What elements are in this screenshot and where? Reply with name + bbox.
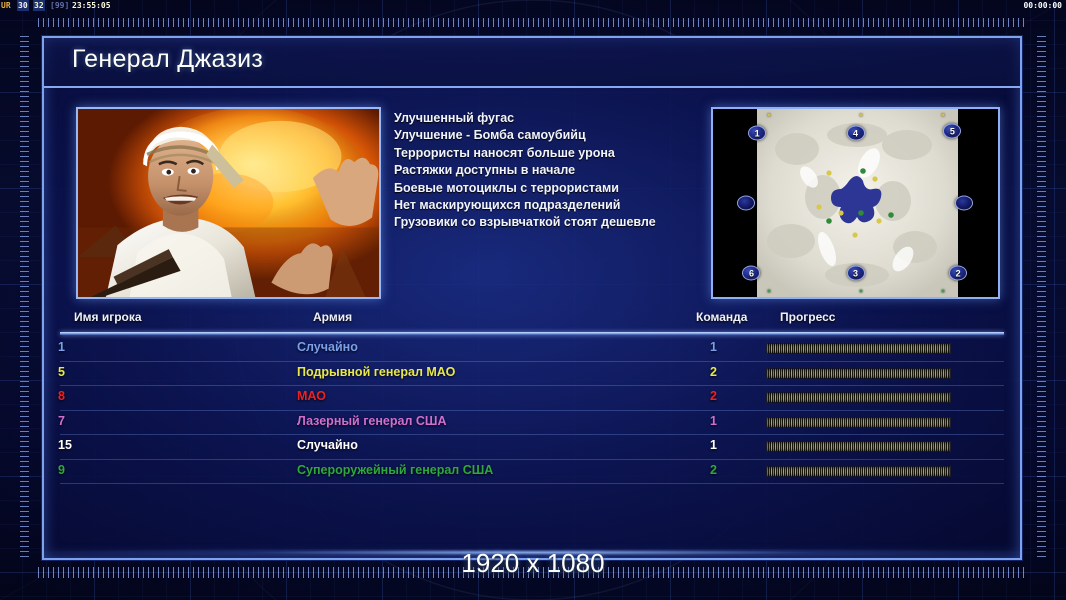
ruler-right-ticks — [1037, 36, 1046, 560]
player-name: 5 — [58, 365, 65, 379]
table-row[interactable]: 8 МАО 2 — [44, 386, 1020, 411]
player-progress-bar — [766, 441, 951, 452]
column-header-progress: Прогресс — [780, 310, 835, 324]
map-start-position-4[interactable]: 4 — [847, 125, 865, 140]
player-team: 2 — [710, 463, 717, 477]
map-preview[interactable]: 1 4 5 6 3 2 — [711, 107, 1000, 299]
player-team: 1 — [710, 340, 717, 354]
table-header-divider — [60, 332, 1004, 335]
map-start-position-1[interactable]: 1 — [748, 125, 766, 140]
map-resource-dot — [860, 114, 863, 117]
map-start-position-2[interactable]: 2 — [949, 265, 967, 280]
player-name: 15 — [58, 438, 72, 452]
map-resource-dot — [942, 290, 945, 293]
ruler-left-ticks — [20, 36, 29, 560]
player-progress-bar — [766, 343, 951, 354]
page-title: Генерал Джазиз — [72, 45, 263, 74]
map-resource-dot — [860, 290, 863, 293]
desc-line-3: Террористы наносят больше урона — [394, 145, 734, 162]
window-content: Улучшенный фугас Улучшение - Бомба самоу… — [44, 88, 1020, 310]
player-progress-bar — [766, 368, 951, 379]
player-army: Случайно — [297, 340, 358, 354]
status-bracket: [99] — [50, 0, 69, 11]
table-row[interactable]: 9 Супероружейный генерал США 2 — [44, 460, 1020, 485]
player-name: 9 — [58, 463, 65, 477]
column-header-team: Команда — [696, 310, 747, 324]
table-header-row: Имя игрока Армия Команда Прогресс — [44, 310, 1020, 332]
table-row[interactable]: 5 Подрывной генерал МАО 2 — [44, 362, 1020, 387]
player-army: Супероружейный генерал США — [297, 463, 493, 477]
player-team: 2 — [710, 365, 717, 379]
player-list-table: Имя игрока Армия Команда Прогресс 1 Случ… — [44, 310, 1020, 558]
player-name: 7 — [58, 414, 65, 428]
column-header-army: Армия — [313, 310, 352, 324]
player-name: 1 — [58, 340, 65, 354]
map-start-position-6[interactable]: 6 — [742, 265, 760, 280]
map-start-position-right[interactable] — [955, 196, 973, 211]
desc-line-7: Грузовики со взрывчаткой стоят дешевле — [394, 214, 734, 231]
status-value-b: 32 — [33, 0, 45, 11]
general-portrait — [76, 107, 381, 299]
map-start-position-5[interactable]: 5 — [943, 123, 961, 138]
map-resource-dot — [768, 290, 771, 293]
player-team: 1 — [710, 438, 717, 452]
row-divider — [60, 483, 1004, 484]
player-army: Случайно — [297, 438, 358, 452]
table-row[interactable]: 1 Случайно 1 — [44, 337, 1020, 362]
player-army: Подрывной генерал МАО — [297, 365, 455, 379]
desc-line-6: Нет маскирующихся подразделений — [394, 197, 734, 214]
table-row[interactable]: 7 Лазерный генерал США 1 — [44, 411, 1020, 436]
player-name: 8 — [58, 389, 65, 403]
general-description: Улучшенный фугас Улучшение - Бомба самоу… — [394, 110, 734, 232]
resolution-label: 1920 x 1080 — [0, 548, 1066, 579]
map-start-position-3[interactable]: 3 — [847, 265, 865, 280]
desc-line-2: Улучшение - Бомба самоубийц — [394, 127, 734, 144]
player-progress-bar — [766, 417, 951, 428]
table-row[interactable]: 15 Случайно 1 — [44, 435, 1020, 460]
status-clock-right: 00:00:00 — [1023, 0, 1062, 11]
general-info-window: Генерал Джазиз — [42, 36, 1022, 560]
map-start-position-left[interactable] — [737, 196, 755, 211]
desc-line-5: Боевые мотоциклы с террористами — [394, 180, 734, 197]
ruler-top-ticks — [38, 18, 1028, 27]
player-team: 1 — [710, 414, 717, 428]
desc-line-4: Растяжки доступны в начале — [394, 162, 734, 179]
map-resource-dot — [768, 114, 771, 117]
status-clock: 23:55:05 — [72, 0, 111, 11]
player-team: 2 — [710, 389, 717, 403]
player-progress-bar — [766, 392, 951, 403]
player-army: Лазерный генерал США — [297, 414, 446, 428]
column-header-player: Имя игрока — [74, 310, 142, 324]
table-body: 1 Случайно 1 5 Подрывной генерал МАО 2 8… — [44, 337, 1020, 554]
status-value-a: 30 — [17, 0, 29, 11]
player-progress-bar — [766, 466, 951, 477]
map-resource-dot — [942, 114, 945, 117]
player-army: МАО — [297, 389, 326, 403]
window-title-bar: Генерал Джазиз — [44, 38, 1020, 88]
status-prefix: UR — [1, 0, 11, 11]
portrait-artwork — [78, 109, 379, 298]
top-status-bar: UR 30 32 [99] 23:55:05 00:00:00 — [0, 0, 1066, 11]
desc-line-1: Улучшенный фугас — [394, 110, 734, 127]
